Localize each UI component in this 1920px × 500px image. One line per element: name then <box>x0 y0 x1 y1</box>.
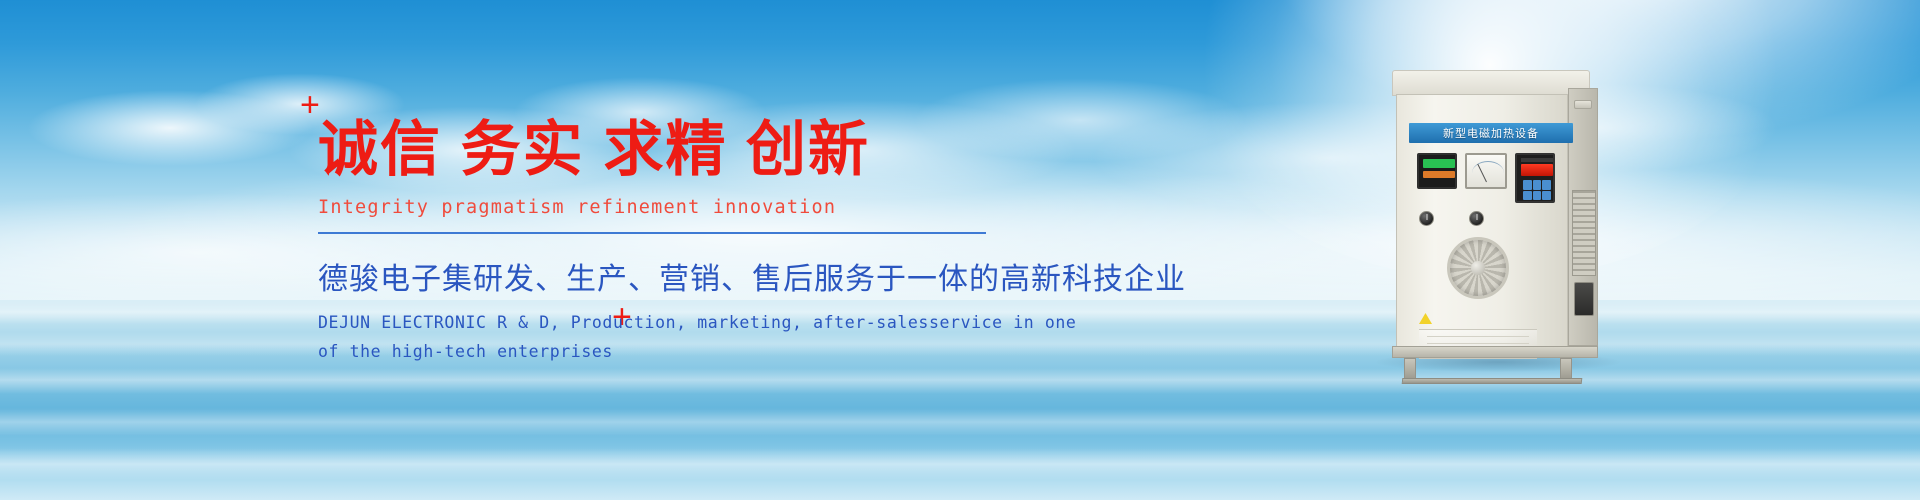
tagline-english-line-2: of the high-tech enterprises <box>318 338 1038 367</box>
machine-leg <box>1560 358 1572 380</box>
led-red-display <box>1521 164 1553 176</box>
control-knob-icon <box>1419 211 1434 226</box>
banner-text-block: 诚信 务实 求精 创新 Integrity pragmatism refinem… <box>318 96 1038 367</box>
plate-line <box>1427 343 1529 344</box>
machine-label-text: 新型电磁加热设备 <box>1443 125 1539 141</box>
meter-scale-arc <box>1472 161 1504 173</box>
headline-chinese: 诚信 务实 求精 创新 <box>318 120 1038 180</box>
machine-control-panel <box>1409 153 1573 205</box>
led-panel-icon <box>1515 153 1555 203</box>
machine-dark-vent <box>1574 282 1594 316</box>
machine-base <box>1392 346 1598 358</box>
machine-foot-bar <box>1402 378 1583 384</box>
tagline-english-line-1: DEJUN ELECTRONIC R & D, Production, mark… <box>318 309 1038 338</box>
machine-leg <box>1404 358 1416 380</box>
headline-english: Integrity pragmatism refinement innovati… <box>318 197 1038 218</box>
plate-line <box>1427 336 1529 337</box>
keypad-key <box>1523 180 1532 190</box>
warning-triangle-icon <box>1419 313 1432 324</box>
led-panel-keypad <box>1523 180 1551 200</box>
machine-body: 新型电磁加热设备 <box>1396 94 1568 348</box>
keypad-key <box>1542 180 1551 190</box>
digital-controller-icon <box>1417 153 1457 189</box>
plus-mark-icon: + <box>300 88 320 122</box>
led-panel-header <box>1521 158 1553 162</box>
tagline-chinese: 德骏电子集研发、生产、营销、售后服务于一体的高新科技企业 <box>318 254 1038 298</box>
digital-display-green <box>1423 159 1455 168</box>
control-knob-icon <box>1469 211 1484 226</box>
digital-display-orange <box>1423 171 1455 178</box>
analog-meter-icon <box>1465 153 1507 189</box>
keypad-key <box>1533 191 1542 201</box>
machine-label-band: 新型电磁加热设备 <box>1409 123 1573 143</box>
keypad-key <box>1523 191 1532 201</box>
promotional-banner: + + 诚信 务实 求精 创新 Integrity pragmatism ref… <box>0 0 1920 500</box>
product-image-heating-equipment: 新型电磁加热设备 <box>1388 70 1604 368</box>
keypad-key <box>1542 191 1551 201</box>
machine-side-vent <box>1574 100 1592 109</box>
keypad-key <box>1533 180 1542 190</box>
fan-vent-icon <box>1447 237 1509 299</box>
machine-louvers <box>1572 190 1596 276</box>
machine-top-lid <box>1392 70 1590 96</box>
divider-line <box>318 232 986 234</box>
